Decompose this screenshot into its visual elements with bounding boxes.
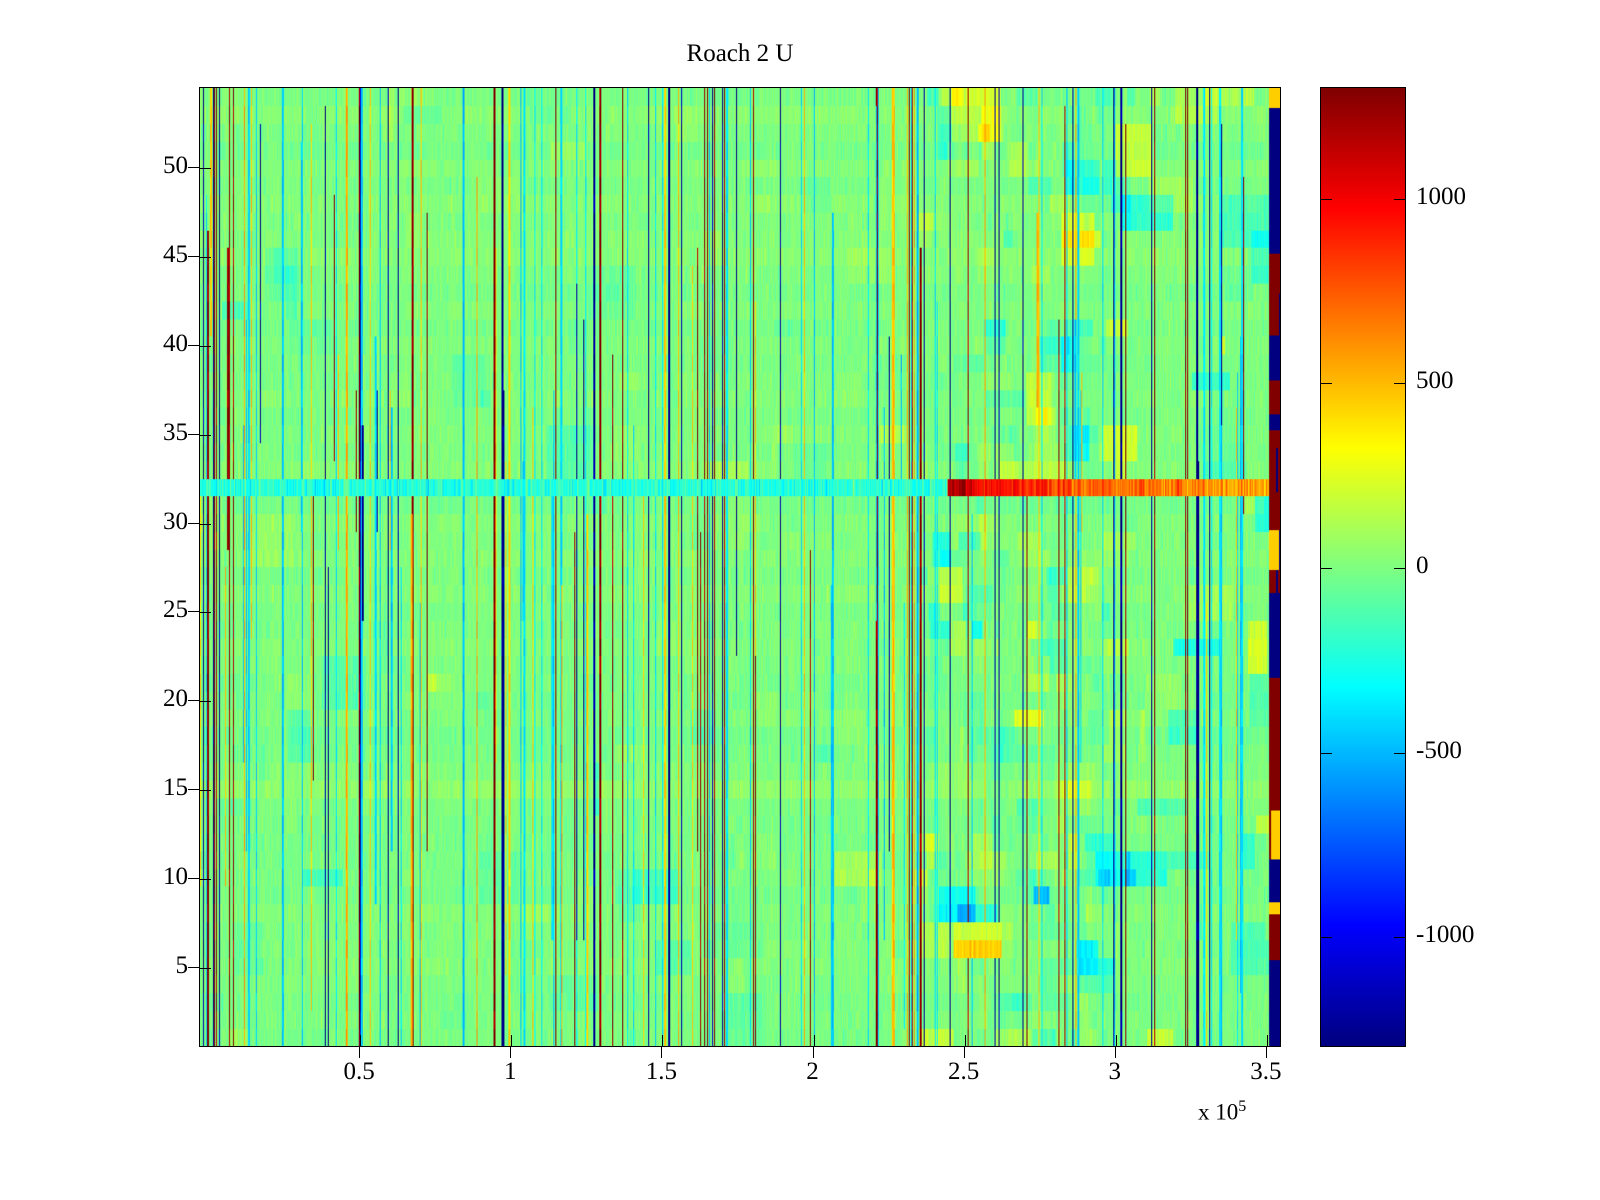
y-tick-label: 35 <box>108 420 188 445</box>
colorbar-tick-mark <box>1394 199 1405 200</box>
y-tick-mark <box>188 878 199 879</box>
colorbar-tick-mark <box>1321 753 1332 754</box>
y-tick-label: 45 <box>108 242 188 267</box>
x-tick-inner-mark <box>1267 1035 1268 1046</box>
y-tick-label: 30 <box>108 509 188 534</box>
x-tick-label: 2 <box>753 1058 873 1086</box>
y-tick-mark <box>188 434 199 435</box>
y-tick-inner-mark <box>200 435 211 436</box>
colorbar-tick-mark <box>1394 937 1405 938</box>
colorbar-tick-mark <box>1394 383 1405 384</box>
colorbar-tick-label: 500 <box>1416 368 1454 393</box>
y-tick-inner-mark <box>200 612 211 613</box>
y-tick-inner-mark <box>200 168 211 169</box>
y-tick-label: 5 <box>108 953 188 978</box>
heatmap-axes[interactable] <box>199 87 1281 1047</box>
matlab-figure-window: Roach 2 U 5101520253035404550 0.511.522.… <box>0 0 1600 1200</box>
x-tick-inner-mark <box>814 1035 815 1046</box>
x-tick-mark <box>1266 1047 1267 1058</box>
y-tick-mark <box>188 967 199 968</box>
colorbar-tick-mark <box>1321 937 1332 938</box>
colorbar-gradient <box>1321 88 1405 1046</box>
colorbar-tick-label: 1000 <box>1416 184 1466 209</box>
heatmap-image <box>200 88 1280 1046</box>
x-exponent-base: x 10 <box>1198 1100 1238 1125</box>
y-tick-mark <box>188 700 199 701</box>
colorbar-tick-mark <box>1394 568 1405 569</box>
y-tick-mark <box>188 611 199 612</box>
x-tick-label: 3 <box>1055 1058 1175 1086</box>
colorbar-tick-mark <box>1321 383 1332 384</box>
y-tick-mark <box>188 167 199 168</box>
x-tick-inner-mark <box>965 1035 966 1046</box>
x-exponent-power: 5 <box>1238 1098 1246 1115</box>
x-tick-label: 1 <box>450 1058 570 1086</box>
y-tick-inner-mark <box>200 790 211 791</box>
x-tick-label: 1.5 <box>601 1058 721 1086</box>
y-tick-label: 20 <box>108 686 188 711</box>
colorbar[interactable] <box>1320 87 1406 1047</box>
colorbar-tick-label: 0 <box>1416 553 1429 578</box>
y-tick-inner-mark <box>200 968 211 969</box>
colorbar-tick-mark <box>1394 753 1405 754</box>
x-axis-exponent-label: x 105 <box>1198 1098 1246 1126</box>
y-tick-label: 10 <box>108 864 188 889</box>
page-title: Roach 2 U <box>199 40 1281 68</box>
y-tick-mark <box>188 523 199 524</box>
x-tick-mark <box>661 1047 662 1058</box>
y-tick-label: 40 <box>108 331 188 356</box>
y-tick-mark <box>188 345 199 346</box>
x-tick-inner-mark <box>662 1035 663 1046</box>
x-tick-label: 0.5 <box>299 1058 419 1086</box>
y-tick-label: 25 <box>108 597 188 622</box>
x-tick-mark <box>359 1047 360 1058</box>
y-tick-mark <box>188 256 199 257</box>
colorbar-tick-label: -1000 <box>1416 922 1474 947</box>
colorbar-tick-mark <box>1321 568 1332 569</box>
x-tick-mark <box>813 1047 814 1058</box>
y-tick-mark <box>188 789 199 790</box>
x-tick-label: 2.5 <box>904 1058 1024 1086</box>
y-tick-inner-mark <box>200 257 211 258</box>
x-tick-inner-mark <box>511 1035 512 1046</box>
y-tick-label: 50 <box>108 153 188 178</box>
x-tick-label: 3.5 <box>1206 1058 1326 1086</box>
x-tick-inner-mark <box>360 1035 361 1046</box>
x-tick-mark <box>964 1047 965 1058</box>
y-tick-inner-mark <box>200 879 211 880</box>
x-tick-inner-mark <box>1116 1035 1117 1046</box>
x-tick-mark <box>510 1047 511 1058</box>
colorbar-tick-label: -500 <box>1416 738 1462 763</box>
colorbar-tick-mark <box>1321 199 1332 200</box>
y-tick-label: 15 <box>108 775 188 800</box>
x-tick-mark <box>1115 1047 1116 1058</box>
y-tick-inner-mark <box>200 346 211 347</box>
y-tick-inner-mark <box>200 701 211 702</box>
y-tick-inner-mark <box>200 524 211 525</box>
